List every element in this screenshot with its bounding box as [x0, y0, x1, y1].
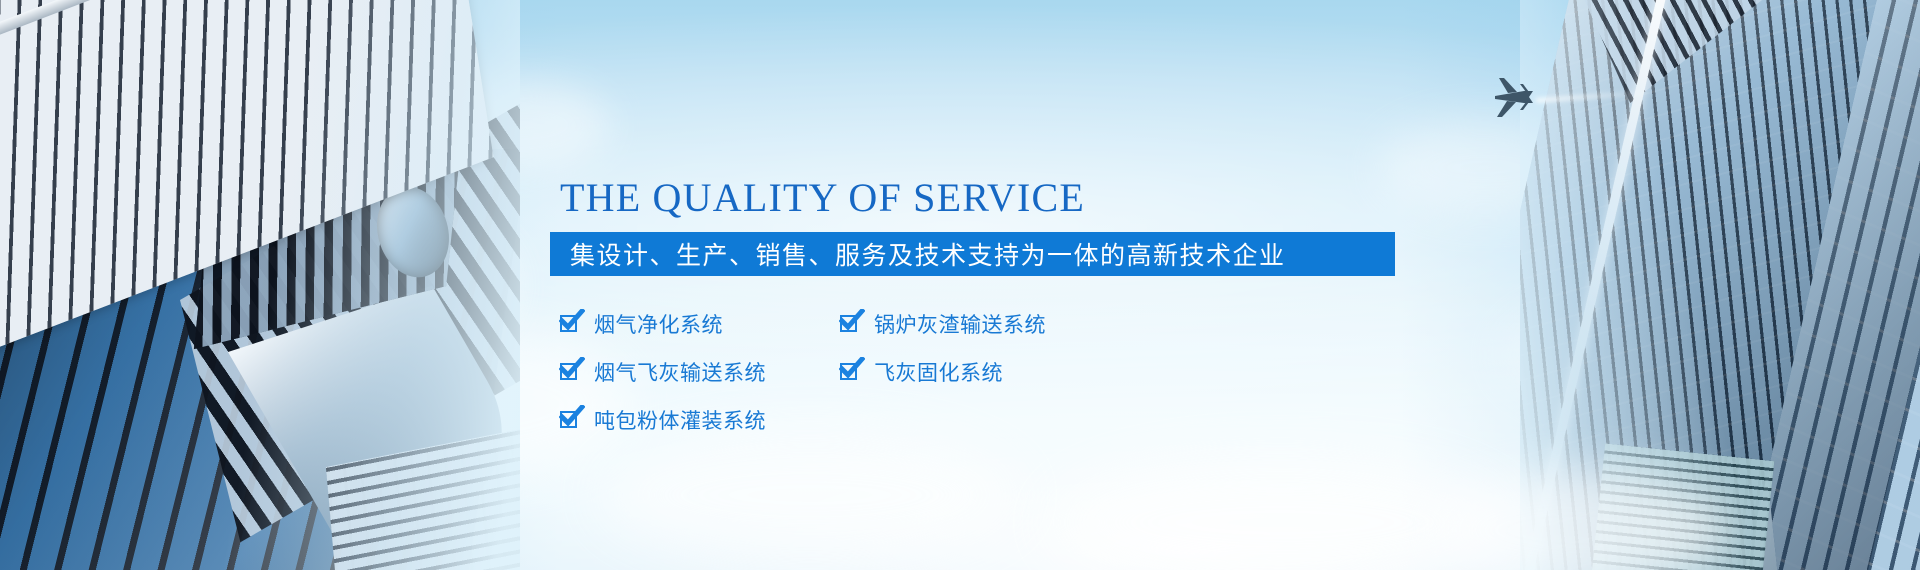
- airplane-group: [1484, 76, 1624, 136]
- tagline-text: 集设计、生产、销售、服务及技术支持为一体的高新技术企业: [550, 236, 1286, 272]
- feature-list: 烟气净化系统 锅炉灰渣输送系统: [560, 300, 1320, 444]
- checkbox-checked-icon: [560, 313, 582, 335]
- feature-label: 飞灰固化系统: [874, 357, 1003, 387]
- feature-label: 锅炉灰渣输送系统: [874, 309, 1046, 339]
- feature-row: 吨包粉体灌装系统: [560, 396, 1320, 444]
- feature-row: 烟气净化系统 锅炉灰渣输送系统: [560, 300, 1320, 348]
- feature-item[interactable]: 烟气飞灰输送系统: [560, 357, 840, 387]
- headline-english: THE QUALITY OF SERVICE: [560, 178, 1085, 218]
- checkbox-checked-icon: [840, 361, 862, 383]
- feature-label: 烟气净化系统: [594, 309, 723, 339]
- feature-item[interactable]: 飞灰固化系统: [840, 357, 1120, 387]
- airplane-icon: [1484, 76, 1544, 120]
- feature-item[interactable]: 锅炉灰渣输送系统: [840, 309, 1120, 339]
- feature-item[interactable]: 吨包粉体灌装系统: [560, 405, 840, 435]
- checkbox-checked-icon: [840, 313, 862, 335]
- tagline-bar: 集设计、生产、销售、服务及技术支持为一体的高新技术企业: [550, 232, 1395, 276]
- feature-row: 烟气飞灰输送系统 飞灰固化系统: [560, 348, 1320, 396]
- feature-item[interactable]: 烟气净化系统: [560, 309, 840, 339]
- feature-label: 吨包粉体灌装系统: [594, 405, 766, 435]
- banner-content: THE QUALITY OF SERVICE 集设计、生产、销售、服务及技术支持…: [560, 0, 1460, 570]
- left-building-photo: [0, 0, 520, 570]
- feature-label: 烟气飞灰输送系统: [594, 357, 766, 387]
- checkbox-checked-icon: [560, 409, 582, 431]
- checkbox-checked-icon: [560, 361, 582, 383]
- hero-banner: THE QUALITY OF SERVICE 集设计、生产、销售、服务及技术支持…: [0, 0, 1920, 570]
